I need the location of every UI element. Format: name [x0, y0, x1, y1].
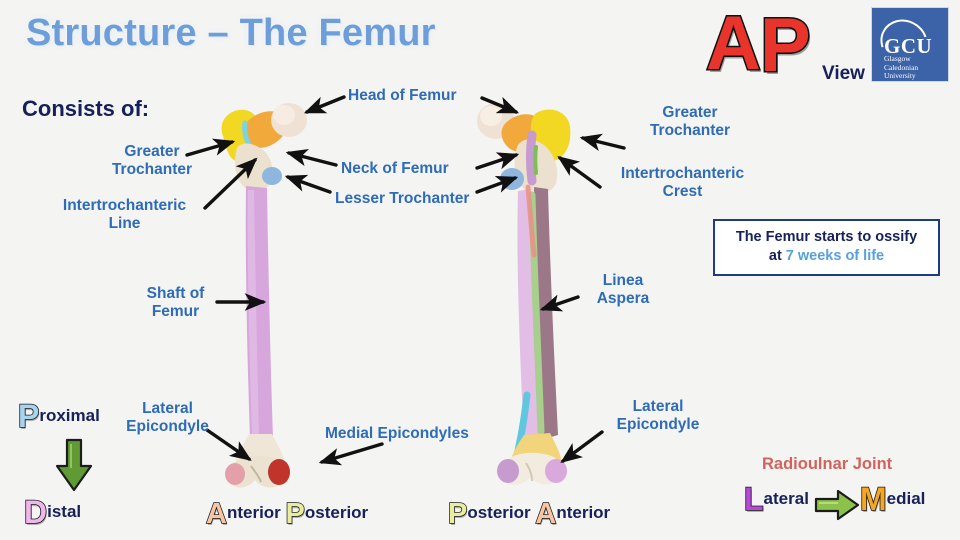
label-medial-epicondyles: Medial Epicondyles [325, 425, 469, 443]
label-shaft-of-femur-line2: Femur [128, 303, 223, 321]
legend-distal-letter: D [24, 494, 47, 530]
label-lateral-epicondyle-right-line2: Epicondyle [598, 416, 718, 434]
label-lesser-trochanter: Lesser Trochanter [335, 190, 469, 208]
legend-distal: Distal [24, 496, 81, 528]
right-arrow-icon [814, 489, 860, 521]
legend-lateral: Lateral [744, 483, 809, 515]
label-intertrochanteric-line-line2: Line [42, 215, 207, 233]
label-lateral-epicondyle-left: Lateral Epicondyle [110, 400, 225, 436]
lateral-medial-legend: Radioulnar Joint Lateral Medial [744, 455, 944, 525]
label-lateral-epicondyle-left-line1: Lateral [110, 400, 225, 418]
caption-right-p-letter: P [448, 498, 467, 530]
label-linea-aspera-line1: Linea [582, 272, 664, 290]
label-greater-trochanter-left-line1: Greater [92, 143, 212, 161]
gcu-institution: Glasgow Caledonian University [884, 55, 942, 81]
caption-left-bone-orientation: Anterior Posterior [206, 500, 368, 529]
legend-proximal-rest: roximal [39, 406, 99, 425]
label-intertrochanteric-line: Intertrochanteric Line [42, 197, 207, 233]
caption-right-a-rest: nterior [556, 503, 610, 522]
label-intertrochanteric-crest-line1: Intertrochanteric [600, 165, 765, 183]
ap-letter-a: A [706, 6, 761, 82]
label-greater-trochanter-right-line1: Greater [630, 104, 750, 122]
down-arrow-icon [54, 438, 94, 494]
caption-left-a-rest: nterior [227, 503, 281, 522]
slide-root: Structure – The Femur Consists of: A P V… [0, 0, 960, 540]
ossification-fact-box: The Femur starts to ossify at 7 weeks of… [713, 219, 940, 276]
ap-letter-p: P [760, 8, 811, 84]
legend-lateral-letter: L [744, 481, 764, 517]
label-intertrochanteric-line-line1: Intertrochanteric [42, 197, 207, 215]
label-lateral-epicondyle-right-line1: Lateral [598, 398, 718, 416]
caption-right-a-letter: A [535, 498, 556, 530]
label-shaft-of-femur-line1: Shaft of [128, 285, 223, 303]
legend-medial-letter: M [860, 481, 887, 517]
label-shaft-of-femur: Shaft of Femur [128, 285, 223, 321]
label-head-of-femur: Head of Femur [348, 87, 457, 105]
ap-view-word: View [822, 63, 865, 85]
legend-lateral-rest: ateral [764, 489, 809, 508]
caption-left-a-letter: A [206, 498, 227, 530]
femur-anterior-illustration [215, 100, 320, 490]
legend-distal-rest: istal [47, 502, 81, 521]
legend-medial: Medial [860, 483, 925, 515]
caption-right-bone-orientation: Posterior Anterior [448, 500, 610, 529]
label-greater-trochanter-left-line2: Trochanter [92, 161, 212, 179]
intro-text: Consists of: [22, 96, 149, 122]
caption-left-p-rest: osterior [305, 503, 368, 522]
label-intertrochanteric-crest: Intertrochanteric Crest [600, 165, 765, 201]
fact-line-2-prefix: at [769, 248, 786, 264]
caption-left-p-letter: P [286, 498, 305, 530]
label-lateral-epicondyle-left-line2: Epicondyle [110, 418, 225, 436]
gcu-logo: GCU Glasgow Caledonian University [872, 8, 948, 81]
label-greater-trochanter-left: Greater Trochanter [92, 143, 212, 179]
legend-proximal-letter: P [18, 398, 39, 434]
label-lateral-epicondyle-right: Lateral Epicondyle [598, 398, 718, 434]
fact-line-2: at 7 weeks of life [723, 247, 930, 266]
caption-right-p-rest: osterior [467, 503, 530, 522]
femur-posterior-illustration [470, 95, 590, 490]
label-greater-trochanter-right-line2: Trochanter [630, 122, 750, 140]
fact-highlight: 7 weeks of life [786, 248, 884, 264]
page-title: Structure – The Femur [26, 12, 436, 55]
label-intertrochanteric-crest-line2: Crest [600, 183, 765, 201]
joint-legend-title: Radioulnar Joint [762, 455, 892, 474]
legend-proximal: Proximal [18, 400, 100, 432]
fact-line-1: The Femur starts to ossify [723, 228, 930, 247]
proximal-distal-legend: Proximal Distal [14, 400, 124, 530]
label-neck-of-femur: Neck of Femur [341, 160, 449, 178]
label-greater-trochanter-right: Greater Trochanter [630, 104, 750, 140]
label-linea-aspera: Linea Aspera [582, 272, 664, 308]
label-linea-aspera-line2: Aspera [582, 290, 664, 308]
ap-view-badge: A P View [706, 6, 856, 92]
legend-medial-rest: edial [887, 489, 926, 508]
